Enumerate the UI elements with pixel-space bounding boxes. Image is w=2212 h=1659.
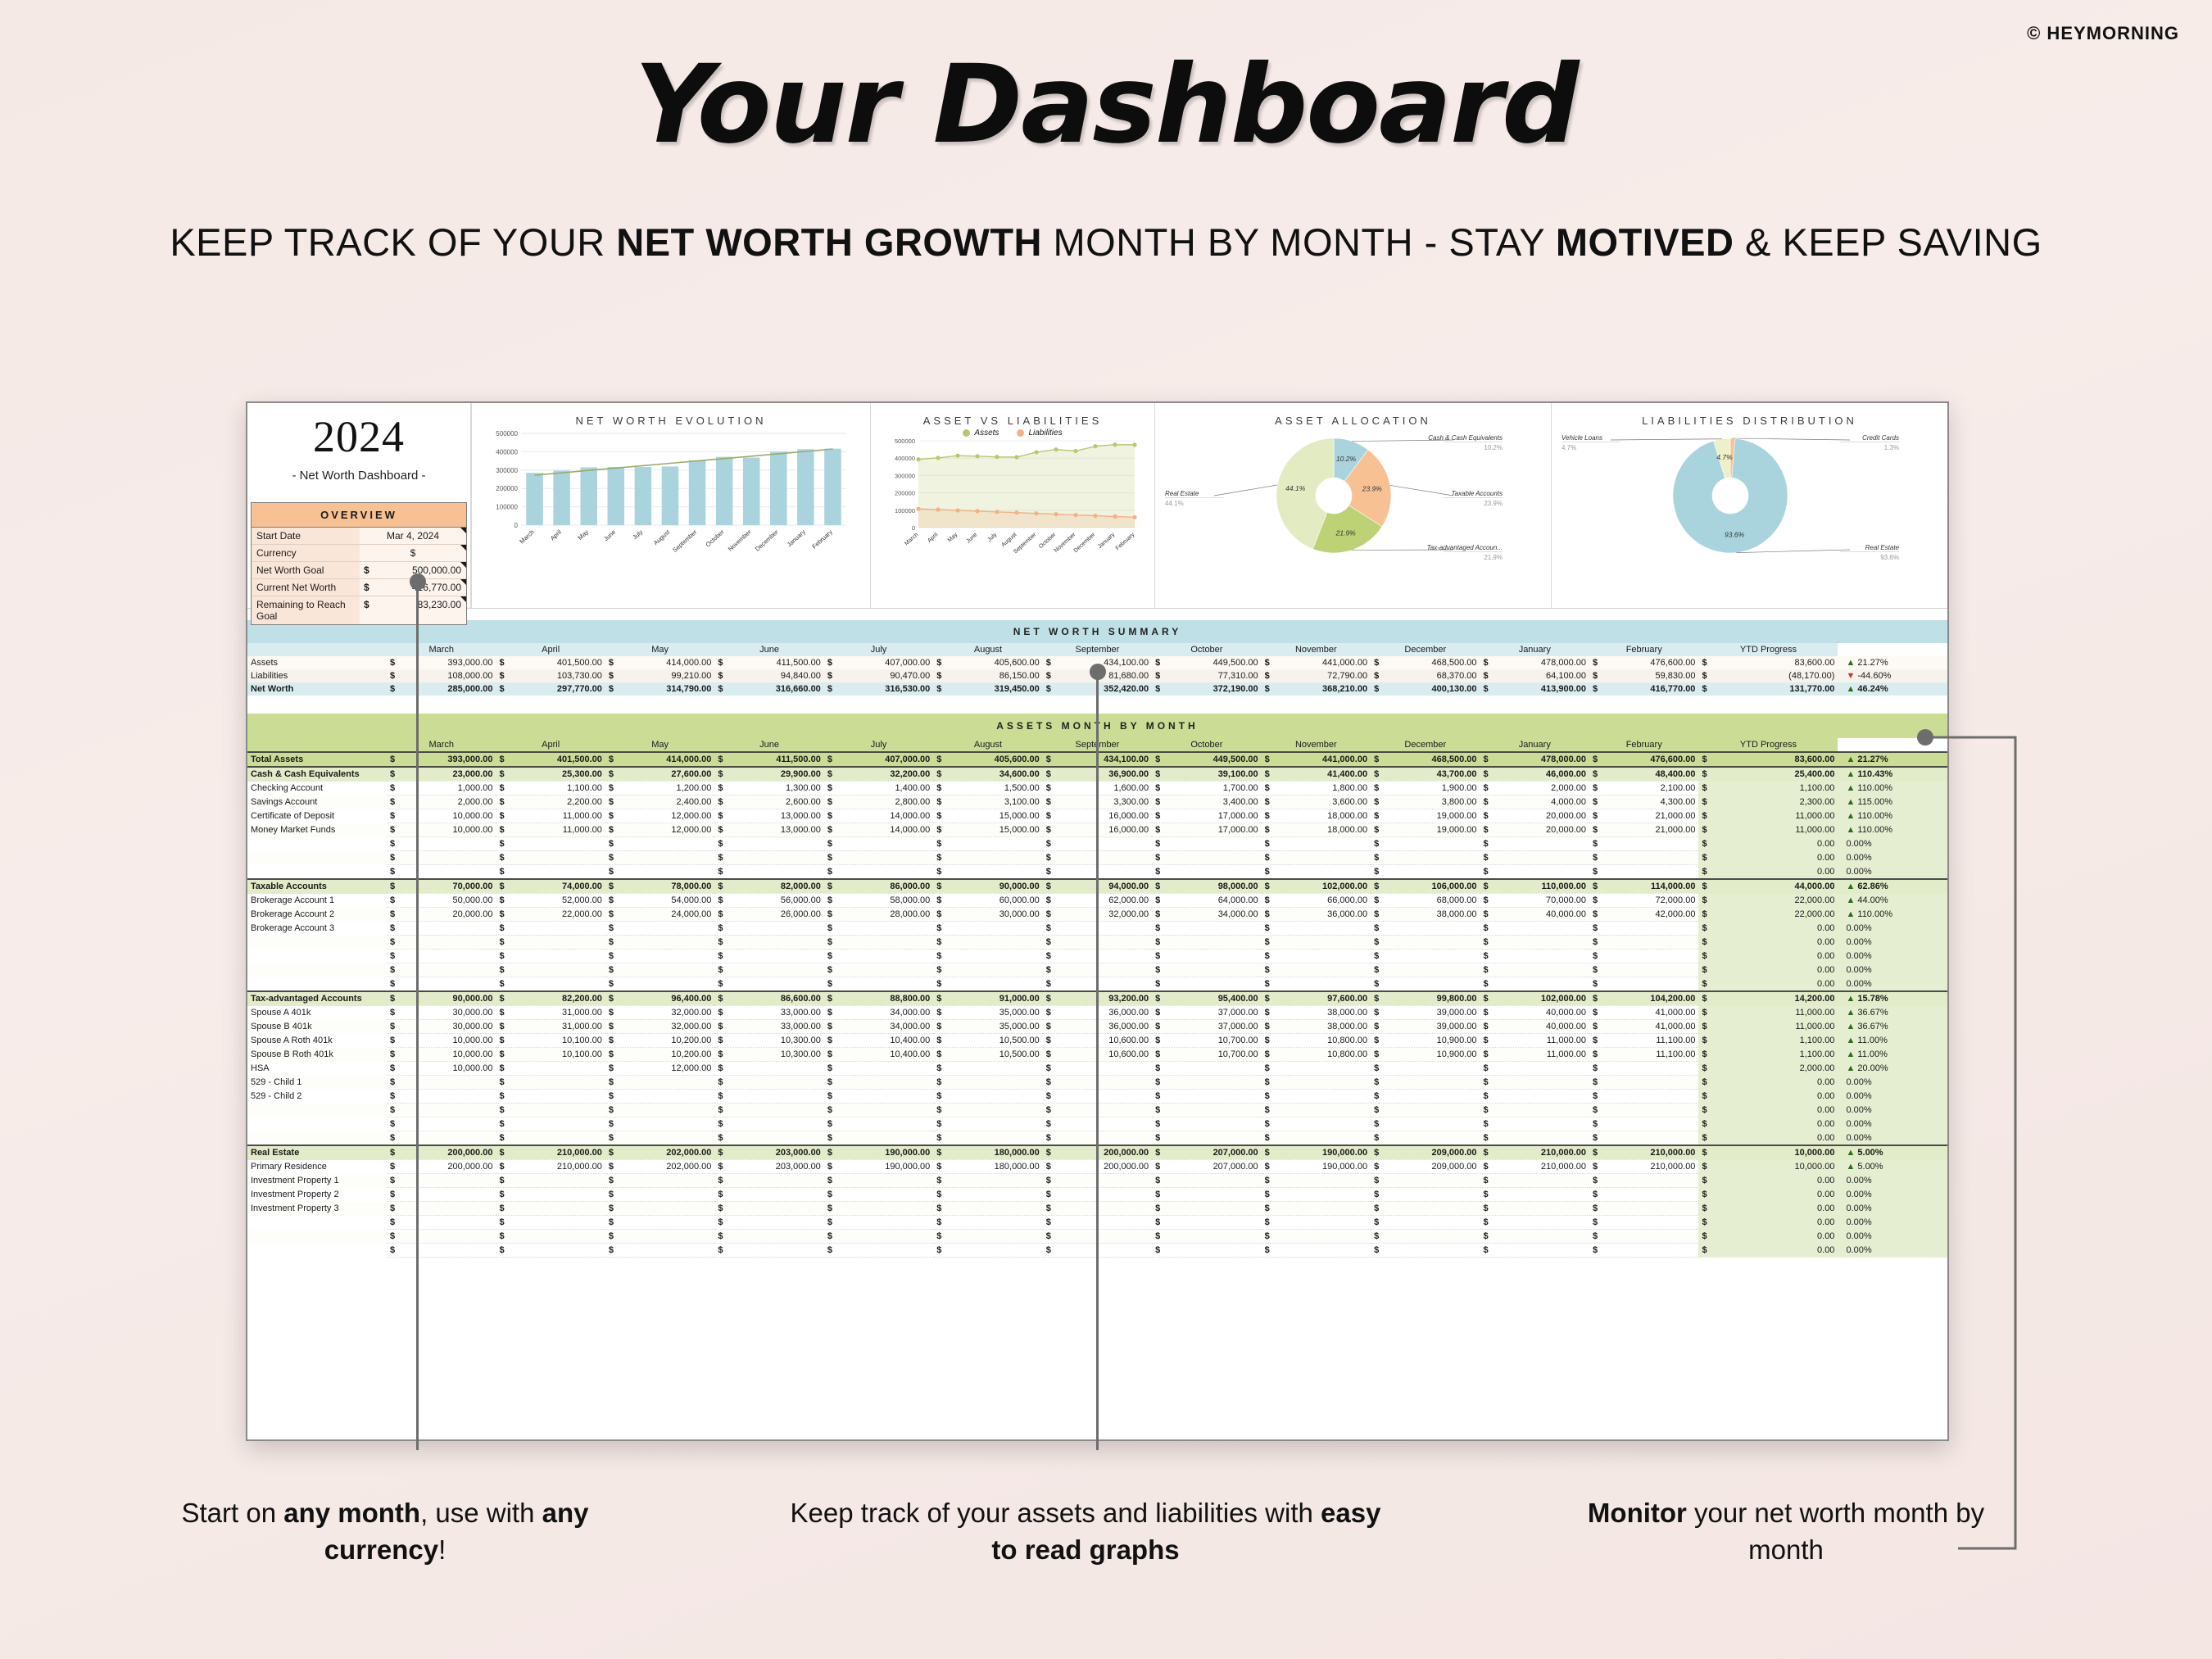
asset-value-cell[interactable]: $ xyxy=(605,1188,714,1202)
asset-value-cell[interactable]: $ xyxy=(1371,936,1480,950)
asset-value-cell[interactable]: $ xyxy=(1262,950,1371,963)
summary-value-cell[interactable]: $478,000.00 xyxy=(1480,656,1589,669)
asset-value-cell[interactable]: $ xyxy=(933,1188,1042,1202)
asset-value-cell[interactable]: $ xyxy=(605,1244,714,1258)
asset-value-cell[interactable]: $ xyxy=(1480,1104,1589,1117)
ytd-value-cell[interactable]: $0.00 xyxy=(1698,922,1838,936)
ytd-value-cell[interactable]: $0.00 xyxy=(1698,1090,1838,1104)
asset-value-cell[interactable]: $ xyxy=(1589,851,1698,865)
summary-value-cell[interactable]: $393,000.00 xyxy=(387,656,496,669)
asset-value-cell[interactable]: $203,000.00 xyxy=(714,1160,823,1174)
asset-value-cell[interactable]: $ xyxy=(1589,936,1698,950)
asset-value-cell[interactable]: $ xyxy=(387,950,496,963)
asset-value-cell[interactable]: $15,000.00 xyxy=(933,809,1042,823)
summary-value-cell[interactable]: $59,830.00 xyxy=(1589,669,1698,682)
asset-value-cell[interactable]: $209,000.00 xyxy=(1371,1160,1480,1174)
asset-value-cell[interactable]: $ xyxy=(1371,1174,1480,1188)
asset-value-cell[interactable]: $210,000.00 xyxy=(496,1145,605,1160)
asset-value-cell[interactable]: $1,300.00 xyxy=(714,782,823,796)
summary-value-cell[interactable]: $77,310.00 xyxy=(1152,669,1261,682)
asset-value-cell[interactable]: $ xyxy=(1480,1090,1589,1104)
asset-value-cell[interactable]: $ xyxy=(605,1216,714,1230)
asset-value-cell[interactable]: $ xyxy=(496,851,605,865)
asset-value-cell[interactable]: $54,000.00 xyxy=(605,894,714,908)
asset-value-cell[interactable]: $202,000.00 xyxy=(605,1145,714,1160)
summary-value-cell[interactable]: $411,500.00 xyxy=(714,656,823,669)
asset-value-cell[interactable]: $114,000.00 xyxy=(1589,879,1698,894)
asset-value-cell[interactable]: $ xyxy=(714,936,823,950)
asset-value-cell[interactable]: $ xyxy=(1371,1230,1480,1244)
asset-value-cell[interactable]: $ xyxy=(605,950,714,963)
asset-value-cell[interactable]: $ xyxy=(1480,1216,1589,1230)
asset-value-cell[interactable]: $ xyxy=(714,1104,823,1117)
ytd-value-cell[interactable]: $44,000.00 xyxy=(1698,879,1838,894)
asset-value-cell[interactable]: $202,000.00 xyxy=(605,1160,714,1174)
ytd-value-cell[interactable]: $0.00 xyxy=(1698,1230,1838,1244)
asset-value-cell[interactable]: $ xyxy=(1589,922,1698,936)
asset-value-cell[interactable]: $ xyxy=(1480,963,1589,977)
asset-value-cell[interactable]: $200,000.00 xyxy=(387,1160,496,1174)
asset-value-cell[interactable]: $ xyxy=(605,1174,714,1188)
asset-value-cell[interactable]: $ xyxy=(714,865,823,880)
summary-value-cell[interactable]: $68,370.00 xyxy=(1371,669,1480,682)
summary-value-cell[interactable]: $319,450.00 xyxy=(933,682,1042,696)
asset-value-cell[interactable]: $27,600.00 xyxy=(605,767,714,782)
ytd-value-cell[interactable]: $0.00 xyxy=(1698,1117,1838,1131)
summary-value-cell[interactable]: $414,000.00 xyxy=(605,656,714,669)
asset-value-cell[interactable]: $ xyxy=(824,950,933,963)
asset-value-cell[interactable]: $ xyxy=(714,851,823,865)
asset-value-cell[interactable]: $210,000.00 xyxy=(1589,1160,1698,1174)
asset-value-cell[interactable]: $ xyxy=(496,1117,605,1131)
asset-value-cell[interactable]: $ xyxy=(1152,1174,1261,1188)
asset-value-cell[interactable]: $32,000.00 xyxy=(605,1006,714,1020)
asset-value-cell[interactable]: $ xyxy=(1480,1174,1589,1188)
ytd-value-cell[interactable]: $0.00 xyxy=(1698,1202,1838,1216)
ytd-value-cell[interactable]: $0.00 xyxy=(1698,837,1838,851)
asset-value-cell[interactable]: $ xyxy=(1589,1174,1698,1188)
asset-value-cell[interactable]: $13,000.00 xyxy=(714,823,823,837)
chart-net-worth-evolution[interactable]: NET WORTH EVOLUTION 01000002000003000004… xyxy=(471,403,870,608)
asset-value-cell[interactable]: $200,000.00 xyxy=(387,1145,496,1160)
asset-value-cell[interactable]: $52,000.00 xyxy=(496,894,605,908)
asset-value-cell[interactable]: $ xyxy=(933,1131,1042,1146)
asset-value-cell[interactable]: $ xyxy=(605,1090,714,1104)
summary-value-cell[interactable]: $368,210.00 xyxy=(1262,682,1371,696)
asset-value-cell[interactable]: $ xyxy=(387,1104,496,1117)
asset-value-cell[interactable]: $ xyxy=(1262,1216,1371,1230)
asset-value-cell[interactable]: $441,000.00 xyxy=(1262,752,1371,767)
asset-value-cell[interactable]: $ xyxy=(1152,1062,1261,1076)
asset-value-cell[interactable]: $10,700.00 xyxy=(1152,1034,1261,1048)
asset-value-cell[interactable]: $1,000.00 xyxy=(387,782,496,796)
asset-value-cell[interactable]: $ xyxy=(605,963,714,977)
asset-value-cell[interactable]: $ xyxy=(1371,1202,1480,1216)
asset-value-cell[interactable]: $34,000.00 xyxy=(1152,908,1261,922)
asset-value-cell[interactable]: $ xyxy=(824,1062,933,1076)
asset-value-cell[interactable]: $22,000.00 xyxy=(496,908,605,922)
asset-value-cell[interactable]: $ xyxy=(1589,950,1698,963)
asset-value-cell[interactable]: $ xyxy=(933,1202,1042,1216)
asset-value-cell[interactable]: $ xyxy=(714,1244,823,1258)
asset-value-cell[interactable]: $74,000.00 xyxy=(496,879,605,894)
asset-value-cell[interactable]: $ xyxy=(714,1174,823,1188)
asset-value-cell[interactable]: $ xyxy=(496,1062,605,1076)
asset-value-cell[interactable]: $10,700.00 xyxy=(1152,1048,1261,1062)
asset-value-cell[interactable]: $11,000.00 xyxy=(496,823,605,837)
asset-value-cell[interactable]: $33,000.00 xyxy=(714,1006,823,1020)
asset-value-cell[interactable]: $ xyxy=(1262,1230,1371,1244)
asset-value-cell[interactable]: $ xyxy=(387,1188,496,1202)
asset-value-cell[interactable]: $ xyxy=(387,1076,496,1090)
asset-value-cell[interactable]: $39,000.00 xyxy=(1371,1006,1480,1020)
asset-value-cell[interactable]: $20,000.00 xyxy=(1480,823,1589,837)
asset-value-cell[interactable]: $210,000.00 xyxy=(496,1160,605,1174)
asset-value-cell[interactable]: $ xyxy=(1152,865,1261,880)
asset-value-cell[interactable]: $ xyxy=(1371,1062,1480,1076)
ytd-value-cell[interactable]: $1,100.00 xyxy=(1698,1034,1838,1048)
asset-value-cell[interactable]: $90,000.00 xyxy=(933,879,1042,894)
asset-value-cell[interactable]: $ xyxy=(387,1216,496,1230)
asset-value-cell[interactable]: $ xyxy=(1589,1188,1698,1202)
asset-value-cell[interactable]: $ xyxy=(496,1188,605,1202)
asset-value-cell[interactable]: $ xyxy=(933,1174,1042,1188)
asset-value-cell[interactable]: $ xyxy=(824,1202,933,1216)
asset-value-cell[interactable]: $ xyxy=(1262,865,1371,880)
asset-value-cell[interactable]: $190,000.00 xyxy=(1262,1145,1371,1160)
asset-value-cell[interactable]: $ xyxy=(387,1174,496,1188)
asset-value-cell[interactable]: $39,000.00 xyxy=(1371,1020,1480,1034)
ytd-value-cell[interactable]: $22,000.00 xyxy=(1698,894,1838,908)
asset-value-cell[interactable]: $41,000.00 xyxy=(1589,1006,1698,1020)
asset-value-cell[interactable]: $ xyxy=(714,1230,823,1244)
asset-value-cell[interactable]: $180,000.00 xyxy=(933,1160,1042,1174)
asset-value-cell[interactable]: $ xyxy=(933,1090,1042,1104)
asset-value-cell[interactable]: $ xyxy=(496,1244,605,1258)
asset-value-cell[interactable]: $ xyxy=(1480,851,1589,865)
asset-value-cell[interactable]: $ xyxy=(1262,1090,1371,1104)
asset-value-cell[interactable]: $ xyxy=(496,837,605,851)
asset-value-cell[interactable]: $ xyxy=(605,1131,714,1146)
asset-value-cell[interactable]: $20,000.00 xyxy=(387,908,496,922)
asset-value-cell[interactable]: $207,000.00 xyxy=(1152,1160,1261,1174)
asset-value-cell[interactable]: $ xyxy=(933,1062,1042,1076)
asset-value-cell[interactable]: $38,000.00 xyxy=(1371,908,1480,922)
asset-value-cell[interactable]: $ xyxy=(1589,1062,1698,1076)
asset-value-cell[interactable]: $ xyxy=(714,1062,823,1076)
asset-value-cell[interactable]: $19,000.00 xyxy=(1371,823,1480,837)
asset-value-cell[interactable]: $28,000.00 xyxy=(824,908,933,922)
summary-value-cell[interactable]: $72,790.00 xyxy=(1262,669,1371,682)
asset-value-cell[interactable]: $ xyxy=(824,1216,933,1230)
ytd-value-cell[interactable]: $0.00 xyxy=(1698,950,1838,963)
asset-value-cell[interactable]: $ xyxy=(605,865,714,880)
asset-value-cell[interactable]: $ xyxy=(387,1131,496,1146)
asset-value-cell[interactable]: $190,000.00 xyxy=(824,1160,933,1174)
asset-value-cell[interactable]: $10,000.00 xyxy=(387,1062,496,1076)
ytd-value-cell[interactable]: $0.00 xyxy=(1698,936,1838,950)
asset-value-cell[interactable]: $ xyxy=(496,1202,605,1216)
asset-value-cell[interactable]: $ xyxy=(1371,1244,1480,1258)
asset-value-cell[interactable]: $ xyxy=(1371,1188,1480,1202)
asset-value-cell[interactable]: $2,000.00 xyxy=(1480,782,1589,796)
asset-value-cell[interactable]: $25,300.00 xyxy=(496,767,605,782)
summary-value-cell[interactable]: $316,530.00 xyxy=(824,682,933,696)
asset-value-cell[interactable]: $ xyxy=(933,1117,1042,1131)
asset-value-cell[interactable]: $ xyxy=(1152,977,1261,992)
asset-value-cell[interactable]: $11,000.00 xyxy=(1480,1034,1589,1048)
asset-value-cell[interactable]: $10,300.00 xyxy=(714,1034,823,1048)
asset-value-cell[interactable]: $14,000.00 xyxy=(824,823,933,837)
asset-value-cell[interactable]: $ xyxy=(1371,1104,1480,1117)
ytd-value-cell[interactable]: $11,000.00 xyxy=(1698,809,1838,823)
asset-value-cell[interactable]: $33,000.00 xyxy=(714,1020,823,1034)
ytd-value-cell[interactable]: $0.00 xyxy=(1698,1174,1838,1188)
ytd-value-cell[interactable]: $11,000.00 xyxy=(1698,823,1838,837)
asset-value-cell[interactable]: $ xyxy=(714,922,823,936)
asset-value-cell[interactable]: $10,400.00 xyxy=(824,1034,933,1048)
asset-value-cell[interactable]: $50,000.00 xyxy=(387,894,496,908)
asset-value-cell[interactable]: $26,000.00 xyxy=(714,908,823,922)
asset-value-cell[interactable]: $ xyxy=(1589,1076,1698,1090)
asset-value-cell[interactable]: $ xyxy=(605,1104,714,1117)
asset-value-cell[interactable]: $99,800.00 xyxy=(1371,991,1480,1006)
asset-value-cell[interactable]: $ xyxy=(605,1117,714,1131)
summary-value-cell[interactable]: $401,500.00 xyxy=(496,656,605,669)
ytd-value-cell[interactable]: $22,000.00 xyxy=(1698,908,1838,922)
asset-value-cell[interactable]: $17,000.00 xyxy=(1152,823,1261,837)
asset-value-cell[interactable]: $10,900.00 xyxy=(1371,1048,1480,1062)
asset-value-cell[interactable]: $41,000.00 xyxy=(1589,1020,1698,1034)
asset-value-cell[interactable]: $31,000.00 xyxy=(496,1020,605,1034)
summary-value-cell[interactable]: $90,470.00 xyxy=(824,669,933,682)
asset-value-cell[interactable]: $35,000.00 xyxy=(933,1006,1042,1020)
asset-value-cell[interactable]: $ xyxy=(824,1090,933,1104)
asset-value-cell[interactable]: $ xyxy=(824,1244,933,1258)
summary-value-cell[interactable]: $297,770.00 xyxy=(496,682,605,696)
asset-value-cell[interactable]: $ xyxy=(714,1076,823,1090)
asset-value-cell[interactable]: $11,000.00 xyxy=(1480,1048,1589,1062)
asset-value-cell[interactable]: $70,000.00 xyxy=(387,879,496,894)
asset-value-cell[interactable]: $ xyxy=(933,1230,1042,1244)
asset-value-cell[interactable]: $21,000.00 xyxy=(1589,823,1698,837)
asset-value-cell[interactable]: $30,000.00 xyxy=(933,908,1042,922)
asset-value-cell[interactable]: $ xyxy=(824,1076,933,1090)
asset-value-cell[interactable]: $478,000.00 xyxy=(1480,752,1589,767)
asset-value-cell[interactable]: $ xyxy=(1152,1230,1261,1244)
asset-value-cell[interactable]: $ xyxy=(824,1117,933,1131)
asset-value-cell[interactable]: $ xyxy=(824,922,933,936)
asset-value-cell[interactable]: $102,000.00 xyxy=(1262,879,1371,894)
asset-value-cell[interactable]: $ xyxy=(1480,1188,1589,1202)
asset-value-cell[interactable]: $ xyxy=(1262,1188,1371,1202)
asset-value-cell[interactable]: $ xyxy=(496,936,605,950)
summary-value-cell[interactable]: $400,130.00 xyxy=(1371,682,1480,696)
asset-value-cell[interactable]: $ xyxy=(496,922,605,936)
asset-value-cell[interactable]: $190,000.00 xyxy=(1262,1160,1371,1174)
asset-value-cell[interactable]: $ xyxy=(387,851,496,865)
asset-value-cell[interactable]: $ xyxy=(824,1230,933,1244)
asset-value-cell[interactable]: $104,200.00 xyxy=(1589,991,1698,1006)
ytd-value-cell[interactable]: $0.00 xyxy=(1698,865,1838,880)
overview-row-value[interactable]: Mar 4, 2024 xyxy=(360,528,466,544)
asset-value-cell[interactable]: $ xyxy=(824,1131,933,1146)
asset-value-cell[interactable]: $ xyxy=(824,1188,933,1202)
asset-value-cell[interactable]: $ xyxy=(1371,977,1480,992)
summary-value-cell[interactable]: $449,500.00 xyxy=(1152,656,1261,669)
asset-value-cell[interactable]: $13,000.00 xyxy=(714,809,823,823)
asset-value-cell[interactable]: $ xyxy=(1262,1062,1371,1076)
asset-value-cell[interactable]: $ xyxy=(1152,851,1261,865)
asset-value-cell[interactable]: $ xyxy=(387,1090,496,1104)
asset-value-cell[interactable]: $98,000.00 xyxy=(1152,879,1261,894)
asset-value-cell[interactable]: $ xyxy=(1371,865,1480,880)
asset-value-cell[interactable]: $ xyxy=(714,1216,823,1230)
asset-value-cell[interactable]: $ xyxy=(387,1244,496,1258)
asset-value-cell[interactable]: $ xyxy=(496,963,605,977)
asset-value-cell[interactable]: $401,500.00 xyxy=(496,752,605,767)
asset-value-cell[interactable]: $ xyxy=(714,977,823,992)
asset-value-cell[interactable]: $ xyxy=(387,1202,496,1216)
asset-value-cell[interactable]: $10,400.00 xyxy=(824,1048,933,1062)
asset-value-cell[interactable]: $30,000.00 xyxy=(387,1020,496,1034)
asset-value-cell[interactable]: $ xyxy=(1152,963,1261,977)
ytd-value-cell[interactable]: $10,000.00 xyxy=(1698,1145,1838,1160)
asset-value-cell[interactable]: $10,000.00 xyxy=(387,1048,496,1062)
summary-value-cell[interactable]: $103,730.00 xyxy=(496,669,605,682)
asset-value-cell[interactable]: $29,900.00 xyxy=(714,767,823,782)
asset-value-cell[interactable]: $ xyxy=(1152,936,1261,950)
asset-value-cell[interactable]: $86,000.00 xyxy=(824,879,933,894)
asset-value-cell[interactable]: $ xyxy=(387,963,496,977)
summary-value-cell[interactable]: $64,100.00 xyxy=(1480,669,1589,682)
summary-value-cell[interactable]: $99,210.00 xyxy=(605,669,714,682)
asset-value-cell[interactable]: $ xyxy=(714,837,823,851)
asset-value-cell[interactable]: $4,000.00 xyxy=(1480,796,1589,809)
asset-value-cell[interactable]: $1,700.00 xyxy=(1152,782,1261,796)
asset-value-cell[interactable]: $46,000.00 xyxy=(1480,767,1589,782)
asset-value-cell[interactable]: $97,600.00 xyxy=(1262,991,1371,1006)
ytd-value-cell[interactable]: $1,100.00 xyxy=(1698,782,1838,796)
asset-value-cell[interactable]: $ xyxy=(1480,1230,1589,1244)
asset-value-cell[interactable]: $39,100.00 xyxy=(1152,767,1261,782)
asset-value-cell[interactable]: $66,000.00 xyxy=(1262,894,1371,908)
asset-value-cell[interactable]: $ xyxy=(1152,1216,1261,1230)
asset-value-cell[interactable]: $ xyxy=(1589,865,1698,880)
asset-value-cell[interactable]: $48,400.00 xyxy=(1589,767,1698,782)
asset-value-cell[interactable]: $30,000.00 xyxy=(387,1006,496,1020)
summary-value-cell[interactable]: $108,000.00 xyxy=(387,669,496,682)
asset-value-cell[interactable]: $ xyxy=(605,1202,714,1216)
asset-value-cell[interactable]: $ xyxy=(933,950,1042,963)
asset-value-cell[interactable]: $ xyxy=(605,977,714,992)
asset-value-cell[interactable]: $ xyxy=(605,1230,714,1244)
asset-value-cell[interactable]: $ xyxy=(1262,1117,1371,1131)
asset-value-cell[interactable]: $1,800.00 xyxy=(1262,782,1371,796)
asset-value-cell[interactable]: $ xyxy=(496,1131,605,1146)
asset-value-cell[interactable]: $18,000.00 xyxy=(1262,823,1371,837)
asset-value-cell[interactable]: $ xyxy=(714,1090,823,1104)
asset-value-cell[interactable]: $3,600.00 xyxy=(1262,796,1371,809)
asset-value-cell[interactable]: $ xyxy=(496,1076,605,1090)
ytd-value-cell[interactable]: $2,300.00 xyxy=(1698,796,1838,809)
asset-value-cell[interactable]: $14,000.00 xyxy=(824,809,933,823)
asset-value-cell[interactable]: $ xyxy=(1589,1131,1698,1146)
asset-value-cell[interactable]: $70,000.00 xyxy=(1480,894,1589,908)
asset-value-cell[interactable]: $ xyxy=(1589,1090,1698,1104)
asset-value-cell[interactable]: $2,000.00 xyxy=(387,796,496,809)
asset-value-cell[interactable]: $203,000.00 xyxy=(714,1145,823,1160)
asset-value-cell[interactable]: $12,000.00 xyxy=(605,823,714,837)
asset-value-cell[interactable]: $3,400.00 xyxy=(1152,796,1261,809)
asset-value-cell[interactable]: $36,000.00 xyxy=(1262,908,1371,922)
asset-value-cell[interactable]: $ xyxy=(1371,1216,1480,1230)
ytd-value-cell[interactable]: $0.00 xyxy=(1698,1188,1838,1202)
asset-value-cell[interactable]: $ xyxy=(933,865,1042,880)
asset-value-cell[interactable]: $ xyxy=(387,936,496,950)
asset-value-cell[interactable]: $405,600.00 xyxy=(933,752,1042,767)
asset-value-cell[interactable]: $ xyxy=(1589,1244,1698,1258)
asset-value-cell[interactable]: $10,900.00 xyxy=(1371,1034,1480,1048)
ytd-value-cell[interactable]: $83,600.00 xyxy=(1698,752,1838,767)
asset-value-cell[interactable]: $ xyxy=(1371,837,1480,851)
asset-value-cell[interactable]: $ xyxy=(824,837,933,851)
asset-value-cell[interactable]: $ xyxy=(1371,851,1480,865)
asset-value-cell[interactable]: $ xyxy=(387,1230,496,1244)
asset-value-cell[interactable]: $ xyxy=(496,1104,605,1117)
asset-value-cell[interactable]: $43,700.00 xyxy=(1371,767,1480,782)
asset-value-cell[interactable]: $ xyxy=(1589,963,1698,977)
asset-value-cell[interactable]: $ xyxy=(496,1216,605,1230)
asset-value-cell[interactable]: $ xyxy=(1480,1062,1589,1076)
asset-value-cell[interactable]: $407,000.00 xyxy=(824,752,933,767)
overview-row-value[interactable]: $83,230.00 xyxy=(360,596,466,624)
asset-value-cell[interactable]: $ xyxy=(933,922,1042,936)
asset-value-cell[interactable]: $210,000.00 xyxy=(1589,1145,1698,1160)
asset-value-cell[interactable]: $ xyxy=(1589,1104,1698,1117)
summary-value-cell[interactable]: $468,500.00 xyxy=(1371,656,1480,669)
asset-value-cell[interactable]: $1,400.00 xyxy=(824,782,933,796)
asset-value-cell[interactable]: $34,600.00 xyxy=(933,767,1042,782)
asset-value-cell[interactable]: $1,500.00 xyxy=(933,782,1042,796)
asset-value-cell[interactable]: $11,000.00 xyxy=(496,809,605,823)
asset-value-cell[interactable]: $ xyxy=(387,1117,496,1131)
asset-value-cell[interactable]: $ xyxy=(933,1244,1042,1258)
asset-value-cell[interactable]: $ xyxy=(933,837,1042,851)
asset-value-cell[interactable]: $ xyxy=(496,977,605,992)
asset-value-cell[interactable]: $ xyxy=(933,1216,1042,1230)
chart-asset-vs-liabilities[interactable]: ASSET VS LIABILITIES AssetsLiabilities 0… xyxy=(870,403,1154,608)
asset-value-cell[interactable]: $1,900.00 xyxy=(1371,782,1480,796)
asset-value-cell[interactable]: $10,100.00 xyxy=(496,1034,605,1048)
asset-value-cell[interactable]: $12,000.00 xyxy=(605,1062,714,1076)
asset-value-cell[interactable]: $35,000.00 xyxy=(933,1020,1042,1034)
asset-value-cell[interactable]: $ xyxy=(387,865,496,880)
summary-value-cell[interactable]: $441,000.00 xyxy=(1262,656,1371,669)
asset-value-cell[interactable]: $393,000.00 xyxy=(387,752,496,767)
asset-value-cell[interactable]: $ xyxy=(605,922,714,936)
asset-value-cell[interactable]: $ xyxy=(824,963,933,977)
ytd-value-cell[interactable]: $0.00 xyxy=(1698,1216,1838,1230)
asset-value-cell[interactable]: $ xyxy=(933,977,1042,992)
asset-value-cell[interactable]: $ xyxy=(605,936,714,950)
asset-value-cell[interactable]: $ xyxy=(1371,1076,1480,1090)
asset-value-cell[interactable]: $ xyxy=(1480,1244,1589,1258)
asset-value-cell[interactable]: $ xyxy=(1152,1131,1261,1146)
asset-value-cell[interactable]: $207,000.00 xyxy=(1152,1145,1261,1160)
asset-value-cell[interactable]: $449,500.00 xyxy=(1152,752,1261,767)
asset-value-cell[interactable]: $1,100.00 xyxy=(496,782,605,796)
